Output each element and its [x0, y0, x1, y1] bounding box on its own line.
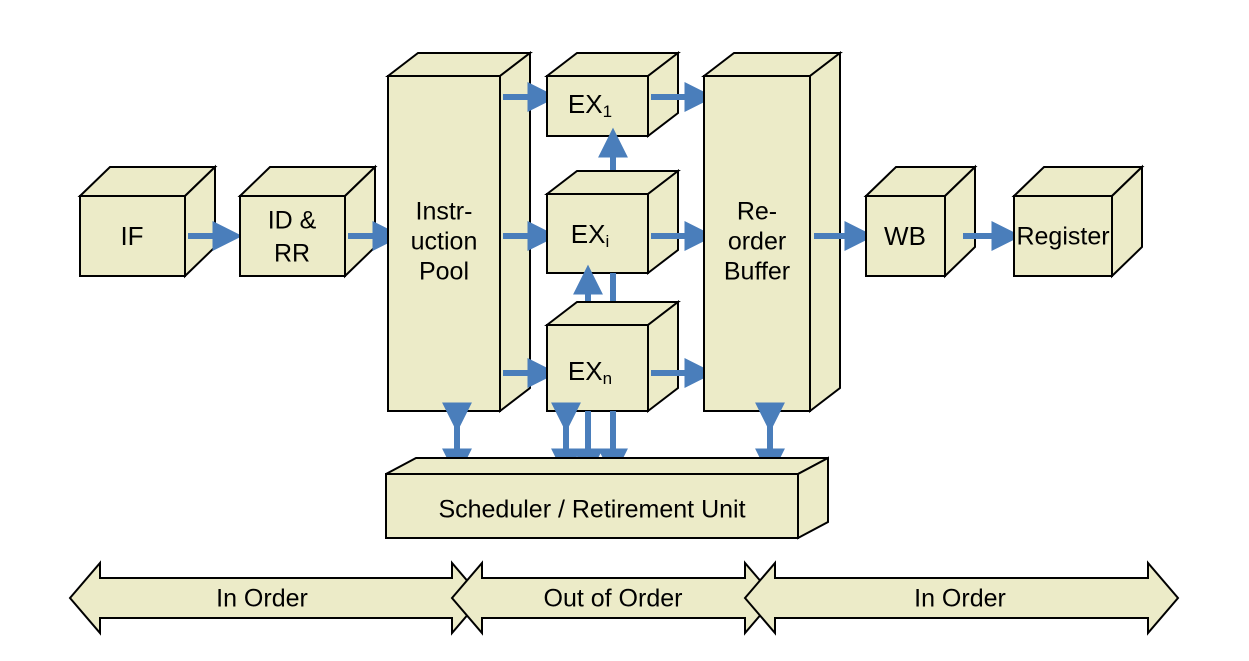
box-reorder-buffer-line3: Buffer — [724, 258, 790, 286]
band-in-order-back: In Order — [745, 563, 1178, 633]
box-reorder-buffer: Re- order Buffer — [704, 53, 840, 411]
band-out-of-order: Out of Order — [452, 563, 775, 633]
box-exi: EXi — [547, 171, 678, 273]
band-in-order-front: In Order — [70, 563, 482, 633]
box-register: Register — [1014, 167, 1142, 276]
box-id-rr: ID & RR — [240, 167, 375, 276]
box-wb: WB — [866, 167, 975, 276]
box-instruction-pool: Instr- uction Pool — [388, 53, 530, 411]
box-scheduler-label: Scheduler / Retirement Unit — [438, 496, 745, 524]
box-if: IF — [80, 167, 215, 276]
box-reorder-buffer-line2: order — [728, 228, 786, 256]
band-in-order-back-label: In Order — [914, 585, 1006, 613]
box-wb-label: WB — [884, 221, 926, 251]
box-if-label: IF — [120, 221, 143, 251]
box-reorder-buffer-line1: Re- — [737, 198, 777, 226]
band-out-of-order-label: Out of Order — [544, 585, 683, 613]
box-instruction-pool-line1: Instr- — [416, 198, 473, 226]
box-exn: EXn — [547, 302, 678, 411]
box-instruction-pool-line3: Pool — [419, 258, 469, 286]
box-id-rr-line1: ID & — [268, 207, 317, 235]
diagram-canvas: IF ID & RR Instr- uction Pool — [0, 0, 1249, 661]
box-instruction-pool-line2: uction — [411, 228, 478, 256]
band-in-order-front-label: In Order — [216, 585, 308, 613]
box-id-rr-line2: RR — [274, 240, 310, 268]
box-scheduler: Scheduler / Retirement Unit — [386, 458, 828, 538]
box-register-label: Register — [1016, 223, 1109, 251]
box-exi-label: EXi — [571, 219, 609, 252]
